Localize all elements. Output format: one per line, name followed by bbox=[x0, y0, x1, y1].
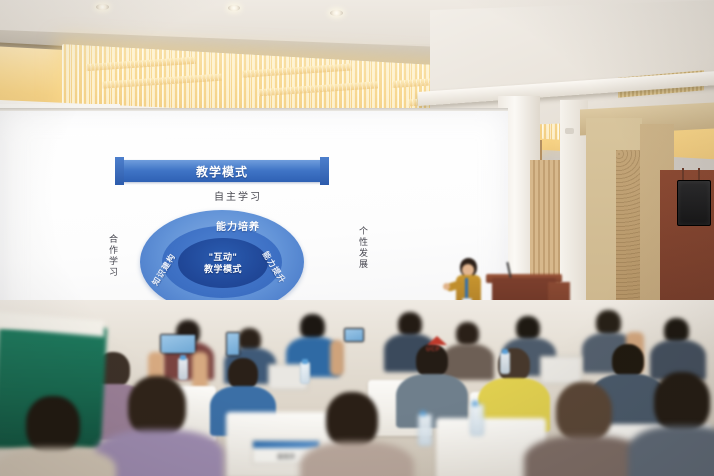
audience-laptop bbox=[540, 356, 582, 384]
audience-raised-arm bbox=[330, 340, 344, 376]
smartphone-recording bbox=[226, 332, 240, 356]
logo-roof-icon bbox=[427, 336, 447, 345]
slide-center-mid-label: 能力培养 bbox=[104, 218, 372, 233]
smartphone-recording bbox=[160, 334, 196, 354]
slide-center-line2: 教学模式 bbox=[204, 264, 242, 275]
audience-shoulders bbox=[628, 426, 714, 476]
wall-speaker bbox=[677, 180, 711, 226]
audience-shoulders bbox=[300, 442, 414, 476]
phone-screen bbox=[227, 333, 239, 355]
audience-head bbox=[326, 392, 378, 448]
audience-head bbox=[556, 382, 612, 442]
water-bottle bbox=[418, 414, 432, 446]
bottle-cap bbox=[502, 349, 508, 354]
phone-screen bbox=[161, 335, 195, 353]
bottle-cap bbox=[180, 355, 186, 360]
audience-head bbox=[456, 322, 479, 346]
slide-title-banner: 教学模式 bbox=[122, 160, 322, 182]
smartphone-recording bbox=[344, 328, 364, 342]
downlight-icon bbox=[228, 5, 240, 11]
slide-center-line1: "互动" bbox=[209, 252, 238, 263]
water-bottle bbox=[500, 352, 510, 374]
name-card-header-bar bbox=[253, 441, 319, 448]
name-card-text: 黄燕萍 bbox=[277, 452, 295, 461]
podium-logo: UCP bbox=[424, 336, 450, 360]
slide-label-top: 自主学习 bbox=[104, 188, 372, 203]
slide-title-text: 教学模式 bbox=[196, 163, 248, 180]
audience-head bbox=[128, 376, 186, 438]
audience-head bbox=[26, 396, 80, 454]
phone-screen bbox=[345, 329, 363, 341]
water-bottle bbox=[470, 404, 484, 436]
audience-area: 黄燕萍 bbox=[0, 300, 714, 476]
presenter-hand bbox=[443, 283, 450, 290]
projection-screen-top-edge bbox=[0, 108, 508, 111]
bottle-cap bbox=[472, 401, 478, 406]
security-camera-icon bbox=[565, 128, 574, 134]
downlight-icon bbox=[96, 4, 109, 10]
bottle-cap bbox=[302, 359, 308, 364]
logo-text: UCP bbox=[426, 347, 440, 353]
audience-shoulders bbox=[0, 448, 116, 476]
conference-hall-photo: 教学模式 自主学习 能力培养 "互动" 教学模式 知识建构 能力提升 合作学习 … bbox=[0, 0, 714, 476]
downlight-icon bbox=[330, 10, 343, 16]
slide-label-left: 合作学习 bbox=[108, 234, 120, 278]
slide-label-right: 个性发展 bbox=[358, 226, 370, 270]
water-bottle bbox=[300, 362, 310, 384]
audience-head bbox=[654, 372, 710, 432]
slide-ring-inner: "互动" 教学模式 bbox=[178, 238, 268, 288]
bottle-cap bbox=[420, 411, 426, 416]
water-bottle bbox=[178, 358, 188, 380]
presenter-lanyard bbox=[465, 278, 468, 300]
audience-head bbox=[612, 344, 644, 378]
